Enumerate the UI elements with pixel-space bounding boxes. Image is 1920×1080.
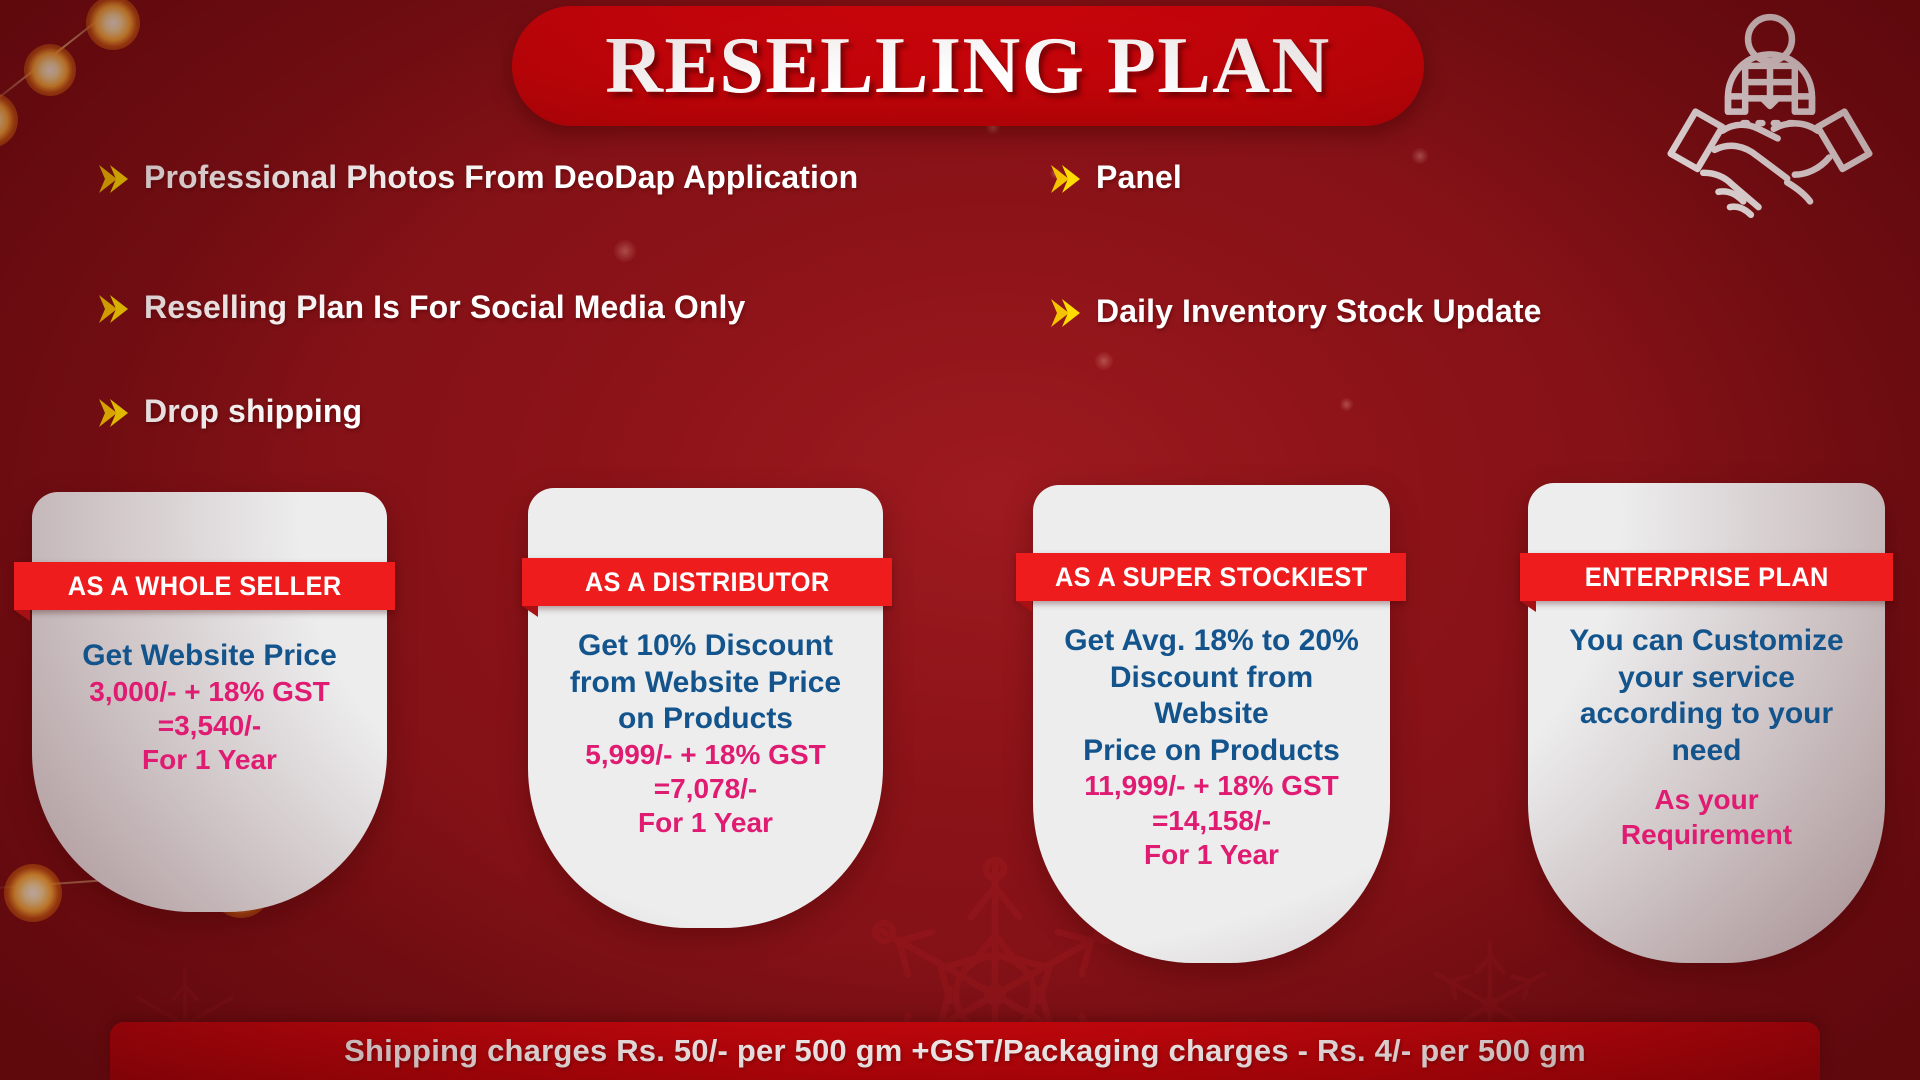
ribbon-fold	[1016, 601, 1032, 612]
plan-ribbon-super-stockiest: AS A SUPER STOCKIEST	[1016, 553, 1406, 601]
spacer	[1538, 769, 1875, 783]
plan-card-whole-seller[interactable]: Get Website Price 3,000/- + 18% GST =3,5…	[32, 492, 387, 912]
plan-ribbon-label: AS A WHOLE SELLER	[68, 571, 342, 602]
feature-item-left-2: Drop shipping	[96, 392, 616, 431]
bokeh-dot	[614, 240, 636, 262]
poster-stage: RESELLING PLAN	[0, 0, 1920, 1080]
double-chevron-right-icon	[1048, 162, 1082, 196]
plan-heading-line: need	[1538, 733, 1875, 770]
plan-heading-line: Price on Products	[1043, 733, 1380, 770]
plan-card-content: You can Customize your service according…	[1528, 623, 1885, 852]
plan-heading-line: You can Customize	[1538, 623, 1875, 660]
page-title: RESELLING PLAN	[605, 26, 1331, 106]
feature-label: Professional Photos From DeoDap Applicat…	[144, 158, 858, 197]
plan-price-line: As your	[1538, 783, 1875, 817]
plan-card-content: Get 10% Discount from Website Price on P…	[528, 628, 883, 840]
plan-heading-line: Get Website Price	[42, 638, 377, 675]
plan-card-content: Get Avg. 18% to 20% Discount from Websit…	[1033, 623, 1390, 872]
plan-heading-line: Discount from	[1043, 660, 1380, 697]
plan-price-line: For 1 Year	[42, 743, 377, 777]
bokeh-dot	[1095, 352, 1113, 370]
plan-card-distributor[interactable]: Get 10% Discount from Website Price on P…	[528, 488, 883, 928]
plan-heading-line: Get 10% Discount	[538, 628, 873, 665]
plan-price-line: Requirement	[1538, 818, 1875, 852]
feature-label: Panel	[1096, 158, 1182, 197]
plan-price-line: 3,000/- + 18% GST	[42, 675, 377, 709]
shipping-charges-bar: Shipping charges Rs. 50/- per 500 gm +GS…	[110, 1022, 1820, 1080]
plan-price-line: =3,540/-	[42, 709, 377, 743]
plan-card-content: Get Website Price 3,000/- + 18% GST =3,5…	[32, 638, 387, 777]
plan-ribbon-enterprise: ENTERPRISE PLAN	[1520, 553, 1893, 601]
double-chevron-right-icon	[96, 292, 130, 326]
plan-ribbon-distributor: AS A DISTRIBUTOR	[522, 558, 892, 606]
plan-heading-line: according to your	[1538, 696, 1875, 733]
feature-item-right-0: Panel	[1048, 158, 1468, 197]
double-chevron-right-icon	[96, 396, 130, 430]
feature-label: Daily Inventory Stock Update	[1096, 292, 1542, 331]
double-chevron-right-icon	[96, 162, 130, 196]
string-lights-top-left	[0, 0, 200, 150]
handshake-partnership-icon	[1665, 8, 1875, 223]
feature-item-left-1: Reselling Plan Is For Social Media Only	[96, 288, 976, 327]
feature-item-right-1: Daily Inventory Stock Update	[1048, 292, 1808, 331]
plan-ribbon-label: AS A SUPER STOCKIEST	[1055, 562, 1368, 593]
feature-label: Reselling Plan Is For Social Media Only	[144, 288, 745, 327]
plan-heading-line: Get Avg. 18% to 20%	[1043, 623, 1380, 660]
plan-price-line: For 1 Year	[1043, 838, 1380, 872]
plan-heading-line: on Products	[538, 701, 873, 738]
plan-ribbon-label: AS A DISTRIBUTOR	[585, 567, 830, 598]
feature-item-left-0: Professional Photos From DeoDap Applicat…	[96, 158, 886, 197]
ribbon-fold	[14, 610, 30, 621]
plan-heading-line: Website	[1043, 696, 1380, 733]
plan-price-line: 11,999/- + 18% GST	[1043, 769, 1380, 803]
plan-ribbon-label: ENTERPRISE PLAN	[1585, 562, 1829, 593]
page-title-banner: RESELLING PLAN	[512, 6, 1424, 126]
double-chevron-right-icon	[1048, 296, 1082, 330]
plan-ribbon-whole-seller: AS A WHOLE SELLER	[14, 562, 395, 610]
plan-price-line: For 1 Year	[538, 806, 873, 840]
bokeh-dot	[1340, 398, 1353, 411]
plan-price-line: =7,078/-	[538, 772, 873, 806]
feature-label: Drop shipping	[144, 392, 362, 431]
plan-heading-line: from Website Price	[538, 665, 873, 702]
plan-price-line: =14,158/-	[1043, 804, 1380, 838]
plan-heading-line: your service	[1538, 660, 1875, 697]
shipping-charges-text: Shipping charges Rs. 50/- per 500 gm +GS…	[344, 1033, 1586, 1069]
plan-price-line: 5,999/- + 18% GST	[538, 738, 873, 772]
